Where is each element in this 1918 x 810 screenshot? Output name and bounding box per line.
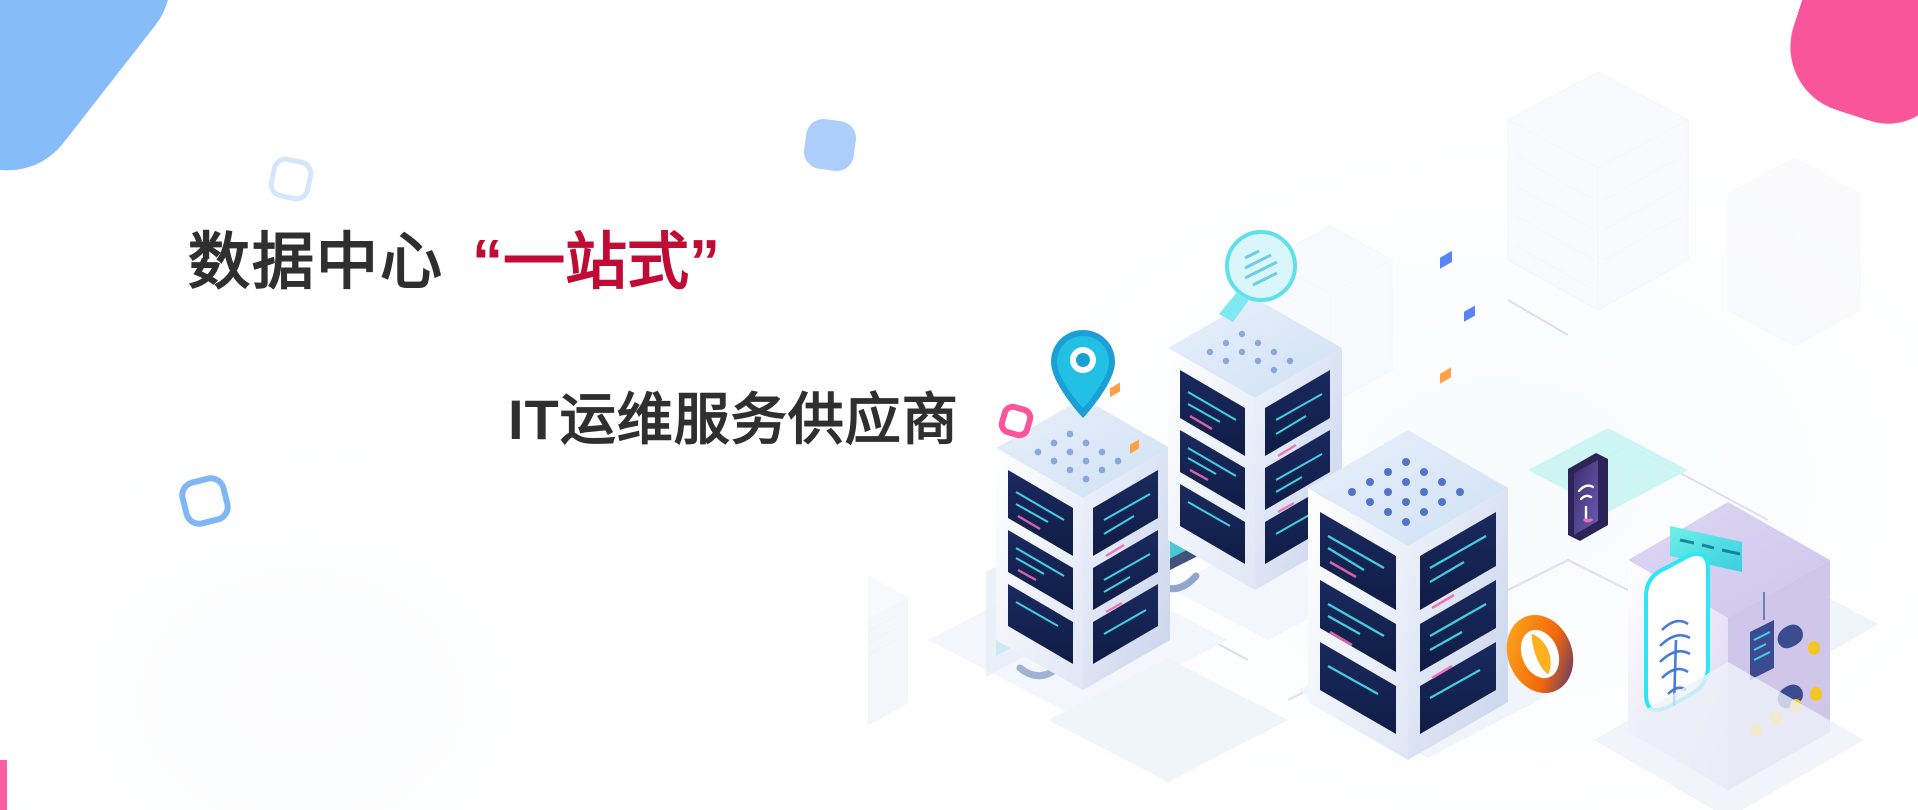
square-filled-center-icon — [802, 117, 858, 173]
headline-block: 数据中心“一站式” IT运维服务供应商 — [188, 232, 1088, 448]
headline-line-1: 数据中心“一站式” — [188, 232, 1088, 294]
storage-cabinet-right — [1594, 502, 1864, 810]
vortex-ring-icon — [1495, 605, 1584, 703]
monitor-small — [1130, 456, 1230, 589]
ring-mid-left-icon — [176, 472, 234, 530]
ring-top-left-icon — [266, 154, 316, 204]
corner-blob-top-left — [0, 0, 199, 199]
tablet-wifi-icon — [1568, 453, 1608, 541]
headline-line-1-dark: 数据中心 — [188, 228, 444, 297]
headline-line-1-accent: “一站式” — [472, 228, 720, 297]
headline-line-2: IT运维服务供应商 — [508, 392, 1088, 448]
magnifier-icon — [1219, 232, 1295, 322]
server-rack-back-center — [1168, 232, 1342, 590]
corner-blob-top-right — [1773, 0, 1918, 139]
server-rack-front-right — [1308, 251, 1508, 760]
monitor-left — [986, 481, 1083, 677]
hero-banner: 数据中心“一站式” IT运维服务供应商 — [0, 0, 1918, 810]
stripe-bottom-left — [0, 760, 7, 810]
